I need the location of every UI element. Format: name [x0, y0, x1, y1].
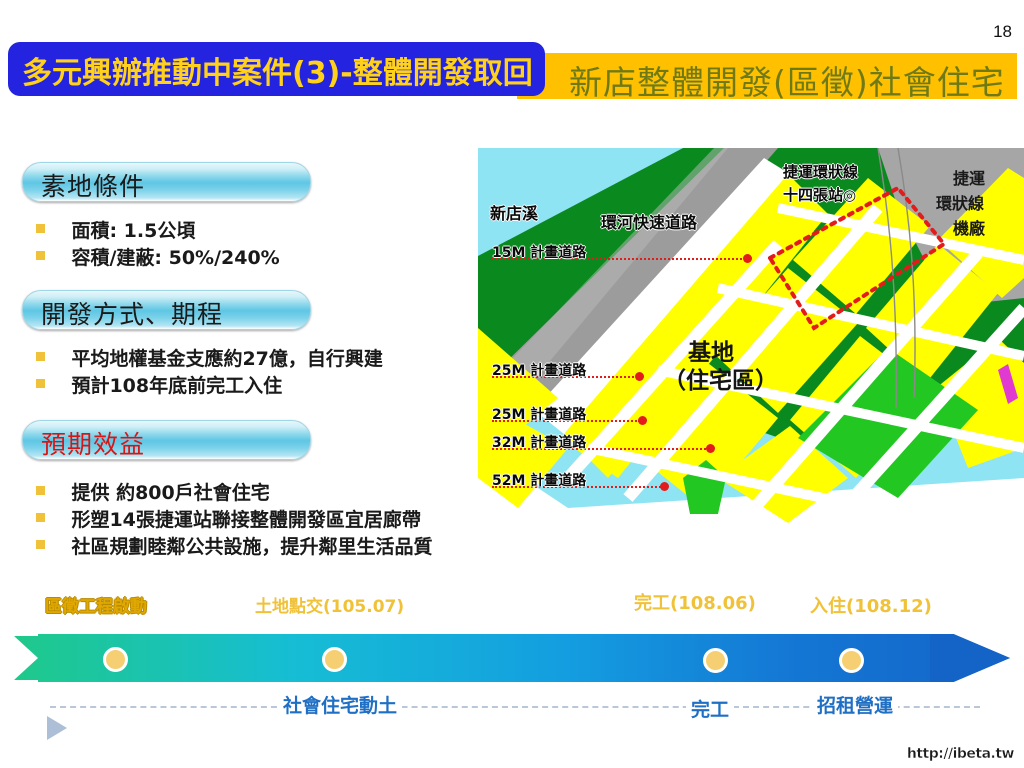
timeline-milestone-dot-3: [703, 648, 728, 673]
header-right-banner: 新店整體開發(區徵)社會住宅: [517, 53, 1017, 99]
list-item-label: 提供 約800戶社會住宅: [71, 478, 269, 505]
list-item: 面積: 1.5公頃: [36, 216, 280, 243]
section-heading-expected-benefits: 預期效益: [22, 420, 311, 460]
timeline-top-label-1: 區徵工程啟動: [45, 592, 147, 617]
list-item-label: 預計108年底前完工入住: [71, 371, 282, 398]
map-label-road-52m: 52M 計畫道路: [492, 470, 586, 490]
header-left-title: 多元興辦推動中案件(3)-整體開發取回: [22, 48, 533, 92]
map-point-marker: [743, 254, 752, 263]
bullet-square-icon: [36, 379, 45, 388]
list-item-label: 社區規劃睦鄰公共設施，提升鄰里生活品質: [71, 532, 432, 559]
list-item-label: 容積/建蔽: 50%/240%: [71, 243, 279, 270]
slide-root: 18 新店整體開發(區徵)社會住宅 多元興辦推動中案件(3)-整體開發取回 素地…: [0, 0, 1024, 768]
section-heading-label: 素地條件: [41, 167, 145, 203]
list-item-label: 形塑14張捷運站聯接整體開發區宜居廊帶: [71, 505, 420, 532]
bullet-list-expected-benefits: 提供 約800戶社會住宅 形塑14張捷運站聯接整體開發區宜居廊帶 社區規劃睦鄰公…: [36, 478, 432, 559]
map-label-road-15m: 15M 計畫道路: [492, 242, 586, 262]
list-item: 形塑14張捷運站聯接整體開發區宜居廊帶: [36, 505, 432, 532]
map-label-circular-line: 環狀線: [936, 190, 984, 214]
map-point-marker: [638, 416, 647, 425]
bullet-square-icon: [36, 352, 45, 361]
map-label-road-25m-b: 25M 計畫道路: [492, 404, 586, 424]
watermark-url: http://ibeta.tw: [907, 746, 1014, 762]
timeline-milestone-dot-1: [103, 647, 128, 672]
timeline-top-label-3: 完工(108.06): [634, 589, 756, 615]
bullet-list-land-conditions: 面積: 1.5公頃 容積/建蔽: 50%/240%: [36, 216, 280, 270]
map-label-depot: 機廠: [953, 215, 985, 239]
list-item: 容積/建蔽: 50%/240%: [36, 243, 280, 270]
bullet-square-icon: [36, 251, 45, 260]
list-item: 社區規劃睦鄰公共設施，提升鄰里生活品質: [36, 532, 432, 559]
timeline-bottom-label-1: 社會住宅動土: [278, 691, 402, 718]
section-heading-land-conditions: 素地條件: [22, 162, 311, 202]
page-number: 18: [993, 22, 1012, 42]
timeline-milestone-dot-4: [839, 648, 864, 673]
map-label-mrt: 捷運: [953, 165, 985, 189]
play-triangle-icon[interactable]: [47, 716, 67, 740]
list-item: 提供 約800戶社會住宅: [36, 478, 432, 505]
section-heading-development-method: 開發方式、期程: [22, 290, 311, 330]
bullet-square-icon: [36, 224, 45, 233]
bullet-square-icon: [36, 540, 45, 549]
section-heading-label: 預期效益: [41, 425, 145, 461]
timeline-top-label-2: 土地點交(105.07): [255, 592, 404, 617]
header-left-banner: 多元興辦推動中案件(3)-整體開發取回: [8, 42, 545, 96]
bullet-square-icon: [36, 513, 45, 522]
timeline-bottom-label-2: 完工: [686, 695, 734, 722]
map-label-site-residential-zone: （住宅區）: [663, 361, 778, 395]
timeline-bottom-label-3: 招租營運: [812, 691, 898, 718]
bullet-list-development-method: 平均地權基金支應約27億，自行興建 預計108年底前完工入住: [36, 344, 383, 398]
list-item: 平均地權基金支應約27億，自行興建: [36, 344, 383, 371]
list-item-label: 面積: 1.5公頃: [71, 216, 195, 243]
map-point-marker: [706, 444, 715, 453]
map-label-shisizhang-station: 十四張站◎: [783, 184, 856, 205]
list-item-label: 平均地權基金支應約27億，自行興建: [71, 344, 382, 371]
map-point-marker: [635, 372, 644, 381]
section-heading-label: 開發方式、期程: [41, 295, 223, 331]
header-right-title: 新店整體開發(區徵)社會住宅: [569, 56, 1005, 104]
map-label-huanhe-expressway: 環河快速道路: [601, 209, 697, 233]
site-location-map: 新店溪 環河快速道路 捷運環狀線 十四張站◎ 捷運 環狀線 機廠 15M 計畫道…: [478, 148, 1024, 556]
timeline-top-label-4: 入住(108.12): [810, 592, 932, 618]
map-label-road-32m: 32M 計畫道路: [492, 432, 586, 452]
map-label-road-25m-a: 25M 計畫道路: [492, 360, 586, 380]
bullet-square-icon: [36, 486, 45, 495]
list-item: 預計108年底前完工入住: [36, 371, 383, 398]
map-point-marker: [660, 482, 669, 491]
timeline-milestone-dot-2: [322, 647, 347, 672]
map-label-xindian-creek: 新店溪: [490, 200, 538, 224]
map-label-mrt-circular-line: 捷運環狀線: [783, 161, 858, 182]
